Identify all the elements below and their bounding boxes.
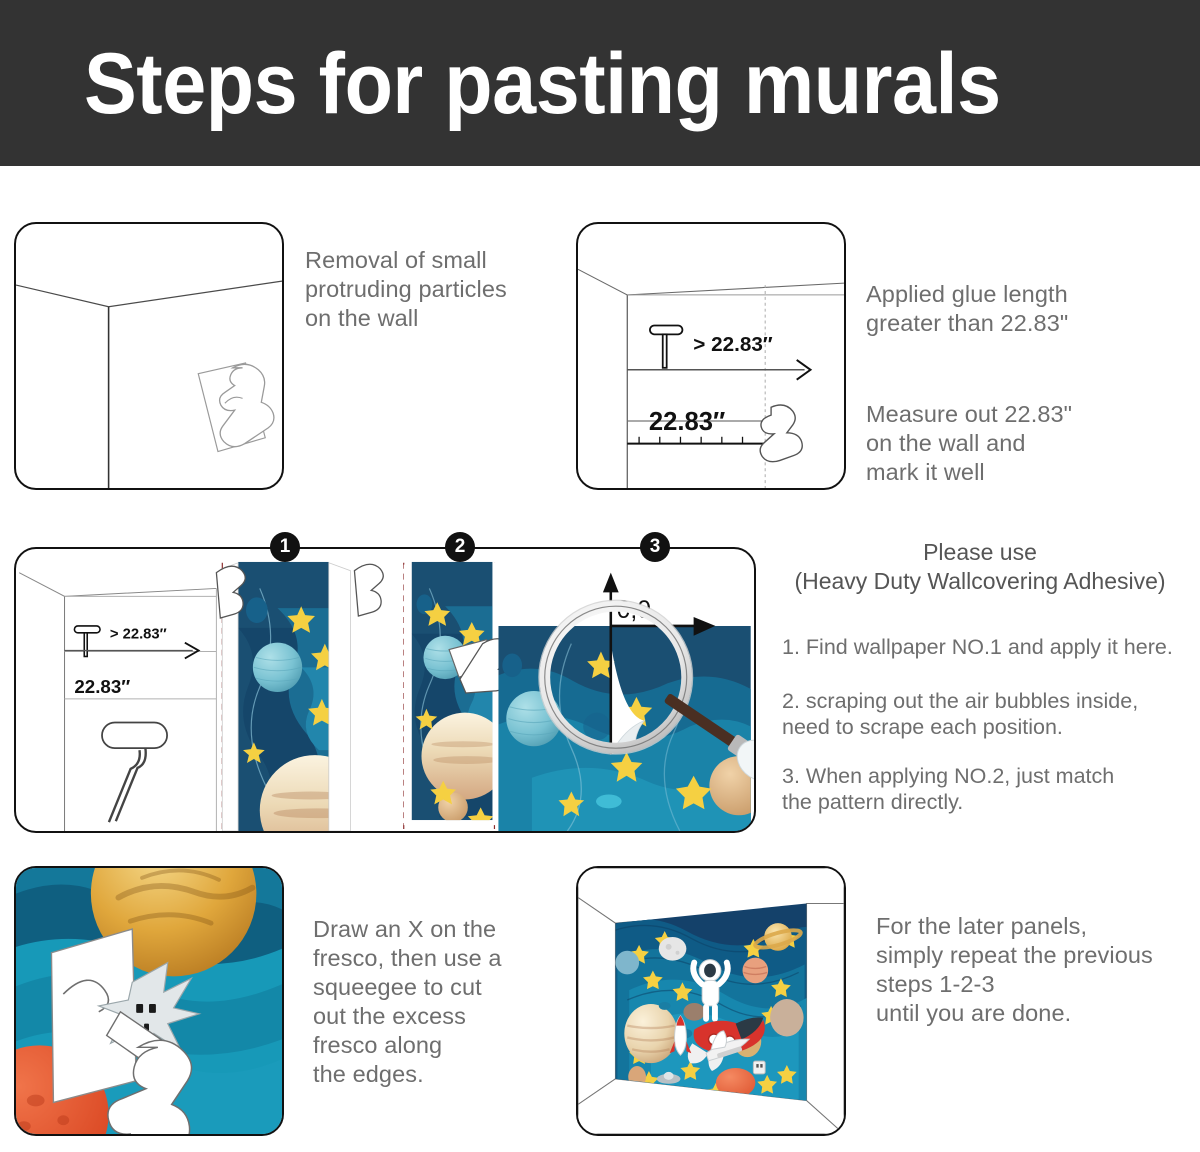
svg-text:22.83″: 22.83″ bbox=[649, 408, 725, 436]
instruction-step-2: 2. scraping out the air bubbles inside, … bbox=[782, 688, 1182, 740]
panel-wall-preparation bbox=[14, 222, 284, 490]
panel-glue-and-measure: > 22.83″ 22.83″ bbox=[576, 222, 846, 490]
panel-finished-mural bbox=[576, 866, 846, 1136]
panel-three-step-application: > 22.83″ 22.83″ bbox=[14, 547, 756, 833]
instruction-step-3: 3. When applying NO.2, just match the pa… bbox=[782, 763, 1182, 815]
svg-text:> 22.83″: > 22.83″ bbox=[693, 333, 773, 356]
page-title: Steps for pasting murals bbox=[84, 36, 1001, 132]
header-band: Steps for pasting murals bbox=[0, 0, 1200, 166]
svg-text:> 22.83″: > 22.83″ bbox=[110, 627, 167, 643]
finished-mural-illustration bbox=[578, 868, 844, 1134]
step-badge-3: 3 bbox=[640, 532, 670, 562]
caption-trim-excess: Draw an X on the fresco, then use a sque… bbox=[313, 915, 563, 1089]
application-sequence-illustration: > 22.83″ 22.83″ bbox=[16, 549, 754, 831]
caption-finished-mural: For the later panels, simply repeat the … bbox=[876, 912, 1200, 1028]
instruction-step-1: 1. Find wallpaper NO.1 and apply it here… bbox=[782, 634, 1182, 660]
wall-corner-illustration bbox=[16, 224, 282, 488]
caption-glue-length: Applied glue length greater than 22.83" bbox=[866, 280, 1196, 338]
caption-wall-preparation: Removal of small protruding particles on… bbox=[305, 246, 565, 333]
svg-text:22.83″: 22.83″ bbox=[74, 676, 130, 697]
trim-fresco-illustration bbox=[16, 868, 282, 1134]
step-badge-2: 2 bbox=[445, 532, 475, 562]
step-badge-1: 1 bbox=[270, 532, 300, 562]
adhesive-heading: Please use (Heavy Duty Wallcovering Adhe… bbox=[770, 538, 1190, 596]
glue-measure-illustration: > 22.83″ 22.83″ bbox=[578, 224, 844, 488]
panel-trim-excess-fresco bbox=[14, 866, 284, 1136]
caption-measure-wall: Measure out 22.83" on the wall and mark … bbox=[866, 400, 1196, 487]
